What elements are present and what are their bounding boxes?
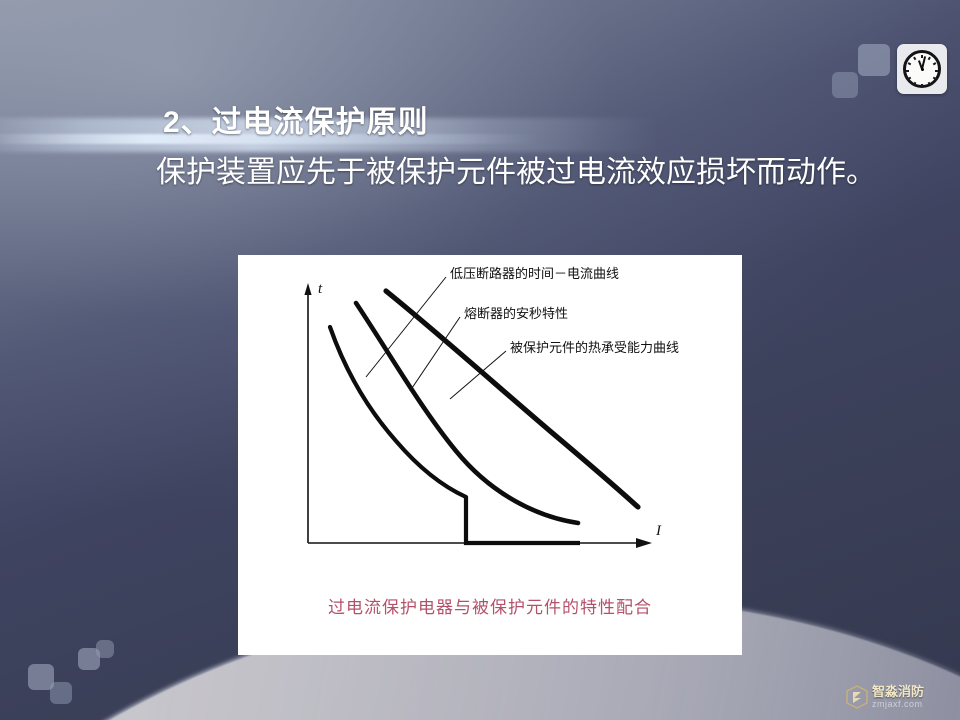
page-title: 2、过电流保护原则 — [163, 97, 429, 141]
clock-icon — [897, 44, 947, 94]
leader-line-fuse — [410, 317, 460, 391]
decor-square-bl-1 — [28, 664, 54, 690]
slide: 2、过电流保护原则 保护装置应先于被保护元件被过电流效应损坏而动作。 — [0, 0, 960, 720]
figure-caption: 过电流保护电器与被保护元件的特性配合 — [238, 593, 742, 618]
decor-square-bl-4 — [96, 640, 114, 658]
curve-fuse-characteristic — [356, 303, 578, 523]
decor-square-bl-3 — [78, 648, 100, 670]
decor-square-bl-2 — [50, 682, 72, 704]
decor-square-tr-2 — [858, 44, 890, 76]
x-axis-label: I — [656, 523, 661, 540]
curve-label-breaker: 低压断路器的时间－电流曲线 — [450, 263, 619, 282]
y-axis-arrow — [304, 283, 311, 295]
y-axis-label: t — [318, 281, 322, 298]
x-axis-arrow — [636, 538, 652, 548]
curve-label-fuse: 熔断器的安秒特性 — [464, 303, 568, 322]
curve-thermal-withstand — [386, 291, 638, 507]
clock-center-pin — [921, 68, 924, 71]
watermark: 智淼消防 zmjaxf.com — [846, 681, 952, 713]
body-paragraph: 保护装置应先于被保护元件被过电流效应损坏而动作。 — [100, 152, 900, 195]
leader-line-thermal — [450, 351, 506, 399]
figure-panel: t I 低压断路器的时间－电流曲线 熔断器的安秒特性 被保护元件的热承受能力曲线… — [238, 255, 742, 655]
watermark-site: zmjaxf.com — [872, 700, 924, 709]
watermark-logo-icon — [846, 685, 868, 709]
curve-label-thermal: 被保护元件的热承受能力曲线 — [510, 337, 679, 356]
decor-square-tr-1 — [832, 72, 858, 98]
curve-breaker-time-current — [330, 327, 466, 497]
clock-face — [903, 50, 941, 88]
time-current-chart: t I 低压断路器的时间－电流曲线 熔断器的安秒特性 被保护元件的热承受能力曲线 — [238, 255, 742, 595]
leader-line-breaker — [366, 277, 446, 377]
watermark-name: 智淼消防 — [872, 685, 924, 698]
